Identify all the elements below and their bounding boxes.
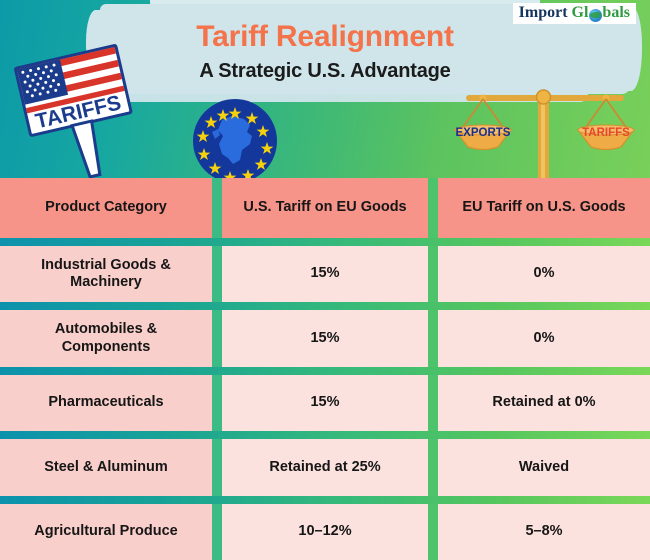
column-divider-1 xyxy=(212,375,222,431)
brand-logo-import: Import xyxy=(519,5,568,21)
column-divider-2 xyxy=(428,310,438,366)
tariff-comparison-table: Product Category U.S. Tariff on EU Goods… xyxy=(0,178,650,560)
column-divider-2 xyxy=(428,504,438,560)
cell-us-tariff: Retained at 25% xyxy=(222,439,428,495)
column-divider-2 xyxy=(428,439,438,495)
cell-us-tariff: 15% xyxy=(222,246,428,302)
header-banner: TARIFFS xyxy=(0,0,650,178)
row-divider xyxy=(0,431,650,439)
column-header-us-tariff: U.S. Tariff on EU Goods xyxy=(222,178,428,238)
table-header-row: Product Category U.S. Tariff on EU Goods… xyxy=(0,178,650,238)
row-divider xyxy=(0,238,650,246)
globe-icon xyxy=(589,9,602,22)
infographic-root: TARIFFS xyxy=(0,0,650,560)
cell-us-tariff: 10–12% xyxy=(222,504,428,560)
row-divider xyxy=(0,496,650,504)
brand-logo-globals-start: Gl xyxy=(572,5,589,21)
column-divider-2 xyxy=(428,246,438,302)
cell-product-category: Automobiles & Components xyxy=(0,310,212,366)
column-divider-1 xyxy=(212,439,222,495)
table-row: Agricultural Produce 10–12% 5–8% xyxy=(0,504,650,560)
brand-logo[interactable]: Import Gl bals xyxy=(513,3,636,24)
table-row: Automobiles & Components 15% 0% xyxy=(0,310,650,366)
cell-us-tariff: 15% xyxy=(222,310,428,366)
us-flag-sign-icon: TARIFFS xyxy=(6,28,146,178)
cell-eu-tariff: Retained at 0% xyxy=(438,375,650,431)
scale-right-label: TARIFFS xyxy=(582,127,630,139)
column-divider-1 xyxy=(212,310,222,366)
cell-eu-tariff: 0% xyxy=(438,246,650,302)
row-divider xyxy=(0,367,650,375)
cell-product-category: Pharmaceuticals xyxy=(0,375,212,431)
cell-us-tariff: 15% xyxy=(222,375,428,431)
column-divider-1 xyxy=(212,246,222,302)
cell-product-category: Steel & Aluminum xyxy=(0,439,212,495)
column-divider-1 xyxy=(212,504,222,560)
cell-product-category: Industrial Goods & Machinery xyxy=(0,246,212,302)
column-header-product-category: Product Category xyxy=(0,178,212,238)
column-divider-1 xyxy=(212,178,222,238)
table-row: Industrial Goods & Machinery 15% 0% xyxy=(0,246,650,302)
column-divider-2 xyxy=(428,375,438,431)
cell-eu-tariff: Waived xyxy=(438,439,650,495)
eu-flag-icon xyxy=(192,98,278,178)
table-row: Steel & Aluminum Retained at 25% Waived xyxy=(0,439,650,495)
column-divider-2 xyxy=(428,178,438,238)
row-divider xyxy=(0,302,650,310)
cell-eu-tariff: 5–8% xyxy=(438,504,650,560)
balance-scale-icon: EXPORTS TARIFFS xyxy=(450,86,640,178)
table-row: Pharmaceuticals 15% Retained at 0% xyxy=(0,375,650,431)
scale-left-label: EXPORTS xyxy=(456,127,511,139)
column-header-eu-tariff: EU Tariff on U.S. Goods xyxy=(438,178,650,238)
cell-product-category: Agricultural Produce xyxy=(0,504,212,560)
brand-logo-globals-end: bals xyxy=(602,5,630,21)
cell-eu-tariff: 0% xyxy=(438,310,650,366)
